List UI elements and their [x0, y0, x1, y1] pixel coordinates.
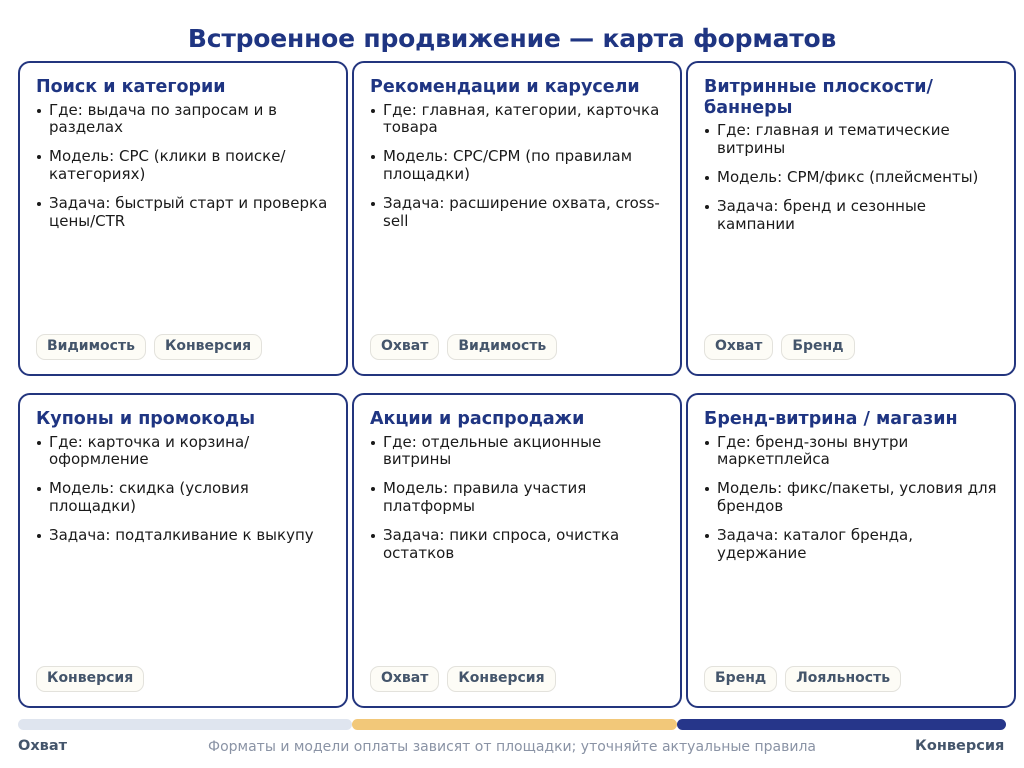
card-tag-list: Конверсия	[36, 666, 144, 692]
card-bullet-list: Где: главная, категории, карточка товара…	[370, 102, 664, 231]
card-bullet-list: Где: бренд-зоны внутри маркетплейса Моде…	[704, 434, 998, 563]
footer: Охват Форматы и модели оплаты зависят от…	[0, 712, 1024, 768]
format-card-showcase-banners[interactable]: Витринные плоскости/баннеры Где: главная…	[686, 61, 1016, 376]
footer-disclaimer: Форматы и модели оплаты зависят от площа…	[0, 739, 1024, 755]
bullet-item: Где: отдельные акционные витрины	[370, 434, 664, 470]
format-card-search-categories[interactable]: Поиск и категории Где: выдача по запроса…	[18, 61, 348, 376]
card-bullet-list: Где: карточка и корзина/оформление Модел…	[36, 434, 330, 545]
card-tag-list: Охват Видимость	[370, 334, 557, 360]
tag-badge[interactable]: Охват	[370, 666, 439, 692]
card-tag-list: Охват Конверсия	[370, 666, 556, 692]
bullet-item: Задача: быстрый старт и проверка цены/CT…	[36, 195, 330, 231]
bullet-item: Задача: каталог бренда, удержание	[704, 527, 998, 563]
bullet-item: Модель: CPC/CPM (по правилам площадки)	[370, 148, 664, 184]
card-bullet-list: Где: главная и тематические витрины Моде…	[704, 122, 998, 233]
bullet-item: Модель: CPM/фикс (плейсменты)	[704, 169, 998, 187]
format-card-promotions-sales[interactable]: Акции и распродажи Где: отдельные акцион…	[352, 393, 682, 708]
bullet-item: Где: главная и тематические витрины	[704, 122, 998, 158]
tag-badge[interactable]: Охват	[704, 334, 773, 360]
format-card-grid: Поиск и категории Где: выдача по запроса…	[18, 61, 1006, 708]
tag-badge[interactable]: Лояльность	[785, 666, 901, 692]
bullet-item: Задача: пики спроса, очистка остатков	[370, 527, 664, 563]
funnel-bar-segment-conversion	[677, 719, 1006, 730]
bullet-item: Задача: расширение охвата, cross-sell	[370, 195, 664, 231]
funnel-bar-segment-reach	[18, 719, 352, 730]
bullet-item: Модель: фикс/пакеты, условия для брендов	[704, 480, 998, 516]
tag-badge[interactable]: Конверсия	[36, 666, 144, 692]
card-bullet-list: Где: отдельные акционные витрины Модель:…	[370, 434, 664, 563]
funnel-label-conversion: Конверсия	[915, 738, 1004, 754]
bullet-item: Где: карточка и корзина/оформление	[36, 434, 330, 470]
format-card-brand-store[interactable]: Бренд-витрина / магазин Где: бренд-зоны …	[686, 393, 1016, 708]
funnel-bar-segment-middle	[352, 719, 677, 730]
bullet-item: Задача: бренд и сезонные кампании	[704, 198, 998, 234]
format-card-coupons-promocodes[interactable]: Купоны и промокоды Где: карточка и корзи…	[18, 393, 348, 708]
card-tag-list: Бренд Лояльность	[704, 666, 901, 692]
card-title: Бренд-витрина / магазин	[704, 409, 998, 430]
bullet-item: Задача: подталкивание к выкупу	[36, 527, 330, 545]
card-title: Поиск и категории	[36, 77, 330, 98]
page-title: Встроенное продвижение — карта форматов	[0, 24, 1024, 53]
tag-badge[interactable]: Видимость	[447, 334, 557, 360]
tag-badge[interactable]: Конверсия	[447, 666, 555, 692]
card-title: Акции и распродажи	[370, 409, 664, 430]
tag-badge[interactable]: Бренд	[704, 666, 777, 692]
bullet-item: Модель: CPC (клики в поиске/категориях)	[36, 148, 330, 184]
bullet-item: Где: главная, категории, карточка товара	[370, 102, 664, 138]
format-card-recommendations-carousels[interactable]: Рекомендации и карусели Где: главная, ка…	[352, 61, 682, 376]
card-title: Витринные плоскости/баннеры	[704, 77, 998, 118]
card-tag-list: Охват Бренд	[704, 334, 855, 360]
tag-badge[interactable]: Охват	[370, 334, 439, 360]
card-title: Рекомендации и карусели	[370, 77, 664, 98]
tag-badge[interactable]: Конверсия	[154, 334, 262, 360]
tag-badge[interactable]: Видимость	[36, 334, 146, 360]
card-tag-list: Видимость Конверсия	[36, 334, 262, 360]
tag-badge[interactable]: Бренд	[781, 334, 854, 360]
bullet-item: Где: выдача по запросам и в разделах	[36, 102, 330, 138]
card-title: Купоны и промокоды	[36, 409, 330, 430]
bullet-item: Где: бренд-зоны внутри маркетплейса	[704, 434, 998, 470]
bullet-item: Модель: правила участия платформы	[370, 480, 664, 516]
bullet-item: Модель: скидка (условия площадки)	[36, 480, 330, 516]
card-bullet-list: Где: выдача по запросам и в разделах Мод…	[36, 102, 330, 231]
